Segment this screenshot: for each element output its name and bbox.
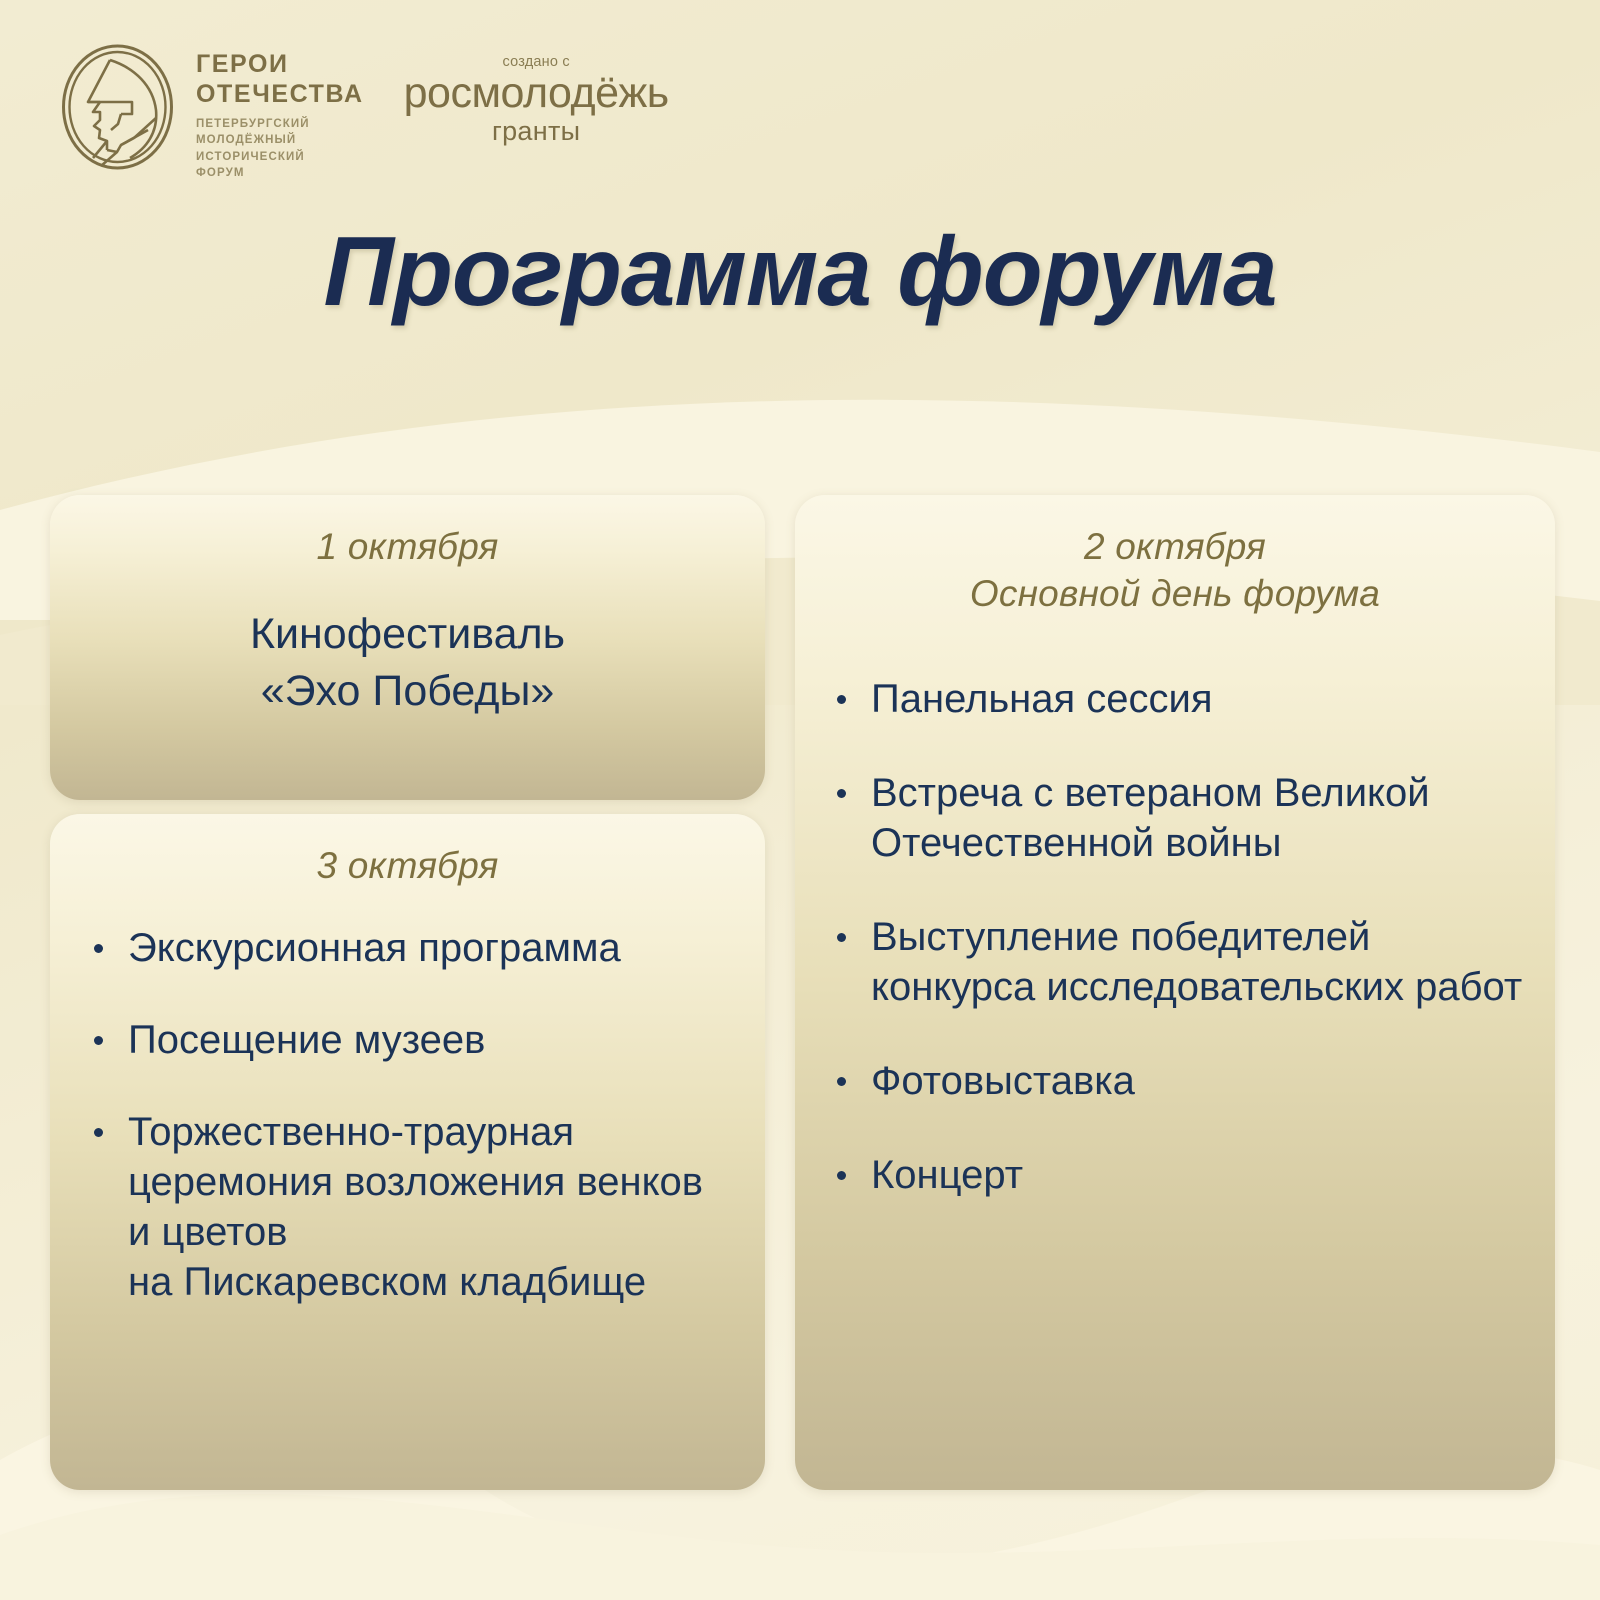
forum-logo-text: ГЕРОИ ОТЕЧЕСТВА ПЕТЕРБУРГСКИЙ МОЛОДЁЖНЫЙ… xyxy=(196,40,364,181)
card-body-1: Кинофестиваль «Эхо Победы» xyxy=(80,606,735,720)
card-subtitle-2: Основной день форума xyxy=(825,570,1525,617)
header-logos: ГЕРОИ ОТЕЧЕСТВА ПЕТЕРБУРГСКИЙ МОЛОДЁЖНЫЙ… xyxy=(55,40,669,181)
forum-logo: ГЕРОИ ОТЕЧЕСТВА ПЕТЕРБУРГСКИЙ МОЛОДЁЖНЫЙ… xyxy=(55,40,364,181)
grant-program: гранты xyxy=(404,116,669,147)
list-item: Фотовыставка xyxy=(825,1056,1525,1106)
card-date-2: 2 октября xyxy=(825,523,1525,570)
list-item: Встреча с ветераном Великой Отечественно… xyxy=(825,768,1525,868)
list-item: Посещение музеев xyxy=(80,1015,735,1065)
program-grid: 1 октября Кинофестиваль «Эхо Победы» 3 о… xyxy=(50,495,1555,1490)
right-column: 2 октября Основной день форума Панельная… xyxy=(795,495,1555,1490)
list-item: Панельная сессия xyxy=(825,674,1525,724)
soldier-profile-emblem-icon xyxy=(55,40,180,175)
brand-title-line2: ОТЕЧЕСТВА xyxy=(196,80,364,110)
brand-subtitle-line1: ПЕТЕРБУРГСКИЙ xyxy=(196,116,364,132)
card-2-list: Панельная сессия Встреча с ветераном Вел… xyxy=(825,674,1525,1200)
brand-subtitle-line2: МОЛОДЁЖНЫЙ xyxy=(196,132,364,148)
list-item: Выступление победителей конкурса исследо… xyxy=(825,912,1525,1012)
poster-root: ГЕРОИ ОТЕЧЕСТВА ПЕТЕРБУРГСКИЙ МОЛОДЁЖНЫЙ… xyxy=(0,0,1600,1600)
grant-name: росмолодёжь xyxy=(404,72,669,115)
left-column: 1 октября Кинофестиваль «Эхо Победы» 3 о… xyxy=(50,495,765,1490)
card-3-list: Экскурсионная программа Посещение музеев… xyxy=(80,923,735,1307)
brand-subtitle-line4: ФОРУМ xyxy=(196,165,364,181)
list-item: Торжественно-траурная церемония возложен… xyxy=(80,1107,735,1307)
list-item: Экскурсионная программа xyxy=(80,923,735,973)
list-item: Концерт xyxy=(825,1150,1525,1200)
rosmolodezh-grants-logo: создано с росмолодёжь гранты xyxy=(404,40,669,147)
page-title: Программа форума xyxy=(0,215,1600,328)
day-card-3-october[interactable]: 3 октября Экскурсионная программа Посеще… xyxy=(50,814,765,1490)
card-date-3: 3 октября xyxy=(80,842,735,889)
brand-subtitle-line3: ИСТОРИЧЕСКИЙ xyxy=(196,149,364,165)
day-card-1-october[interactable]: 1 октября Кинофестиваль «Эхо Победы» xyxy=(50,495,765,800)
grant-created-with: создано с xyxy=(404,54,669,70)
card-date-1: 1 октября xyxy=(80,523,735,570)
day-card-2-october[interactable]: 2 октября Основной день форума Панельная… xyxy=(795,495,1555,1490)
brand-title-line1: ГЕРОИ xyxy=(196,50,364,80)
